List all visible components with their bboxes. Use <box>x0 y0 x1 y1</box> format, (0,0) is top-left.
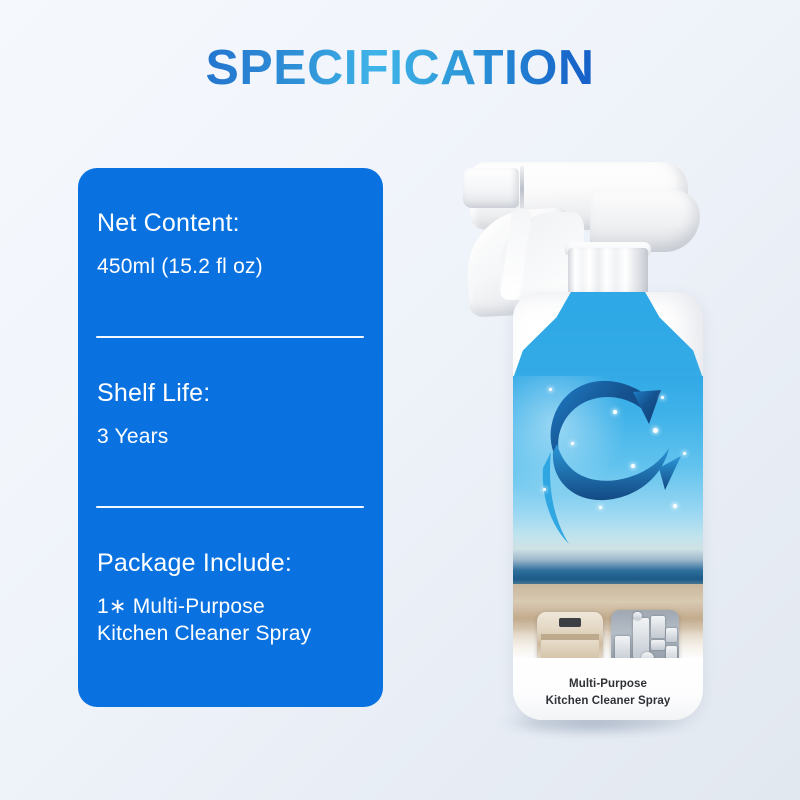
spec-value-shelf-life: 3 Years <box>97 423 367 451</box>
sparkle-icon <box>613 410 617 414</box>
spec-item-shelf-life: Shelf Life: 3 Years <box>97 380 367 450</box>
sparkle-icon <box>543 488 546 491</box>
thumbnail-kitchen-interior <box>537 612 603 664</box>
sparkle-icon <box>673 504 677 508</box>
spec-item-net-content: Net Content: 450ml (15.2 fl oz) <box>97 210 367 280</box>
bottle-label-line2: Kitchen Cleaner Spray <box>513 693 703 710</box>
bottle-body: Multi-Purpose Kitchen Cleaner Spray <box>513 292 703 720</box>
bottle-label-text: Multi-Purpose Kitchen Cleaner Spray <box>513 676 703 709</box>
sparkle-icon <box>631 464 635 468</box>
sparkle-icon <box>549 388 552 391</box>
sparkle-icon <box>571 442 574 445</box>
sparkle-icon <box>683 452 686 455</box>
sprayer-nozzle-icon <box>463 168 519 208</box>
bottle-label-line1: Multi-Purpose <box>513 676 703 693</box>
spec-item-package-include: Package Include: 1∗ Multi-Purpose Kitche… <box>97 550 367 648</box>
specification-slide: SPECIFICATION Net Content: 450ml (15.2 f… <box>0 0 800 800</box>
spec-value-package-include: 1∗ Multi-Purpose Kitchen Cleaner Spray <box>97 593 367 648</box>
divider-2 <box>96 506 364 508</box>
sprayer-seam <box>520 166 524 212</box>
product-image-spray-bottle: Multi-Purpose Kitchen Cleaner Spray <box>440 150 740 750</box>
spec-value-net-content: 450ml (15.2 fl oz) <box>97 253 367 281</box>
spec-label-shelf-life: Shelf Life: <box>97 380 367 408</box>
sparkle-icon <box>661 396 664 399</box>
spec-panel: Net Content: 450ml (15.2 fl oz) Shelf Li… <box>78 168 383 707</box>
page-title: SPECIFICATION <box>0 40 800 96</box>
divider-1 <box>96 336 364 338</box>
spec-label-net-content: Net Content: <box>97 210 367 238</box>
water-swoosh-icon <box>513 352 703 567</box>
sparkle-icon <box>653 428 658 433</box>
spec-label-package-include: Package Include: <box>97 550 367 578</box>
sparkle-icon <box>599 506 602 509</box>
